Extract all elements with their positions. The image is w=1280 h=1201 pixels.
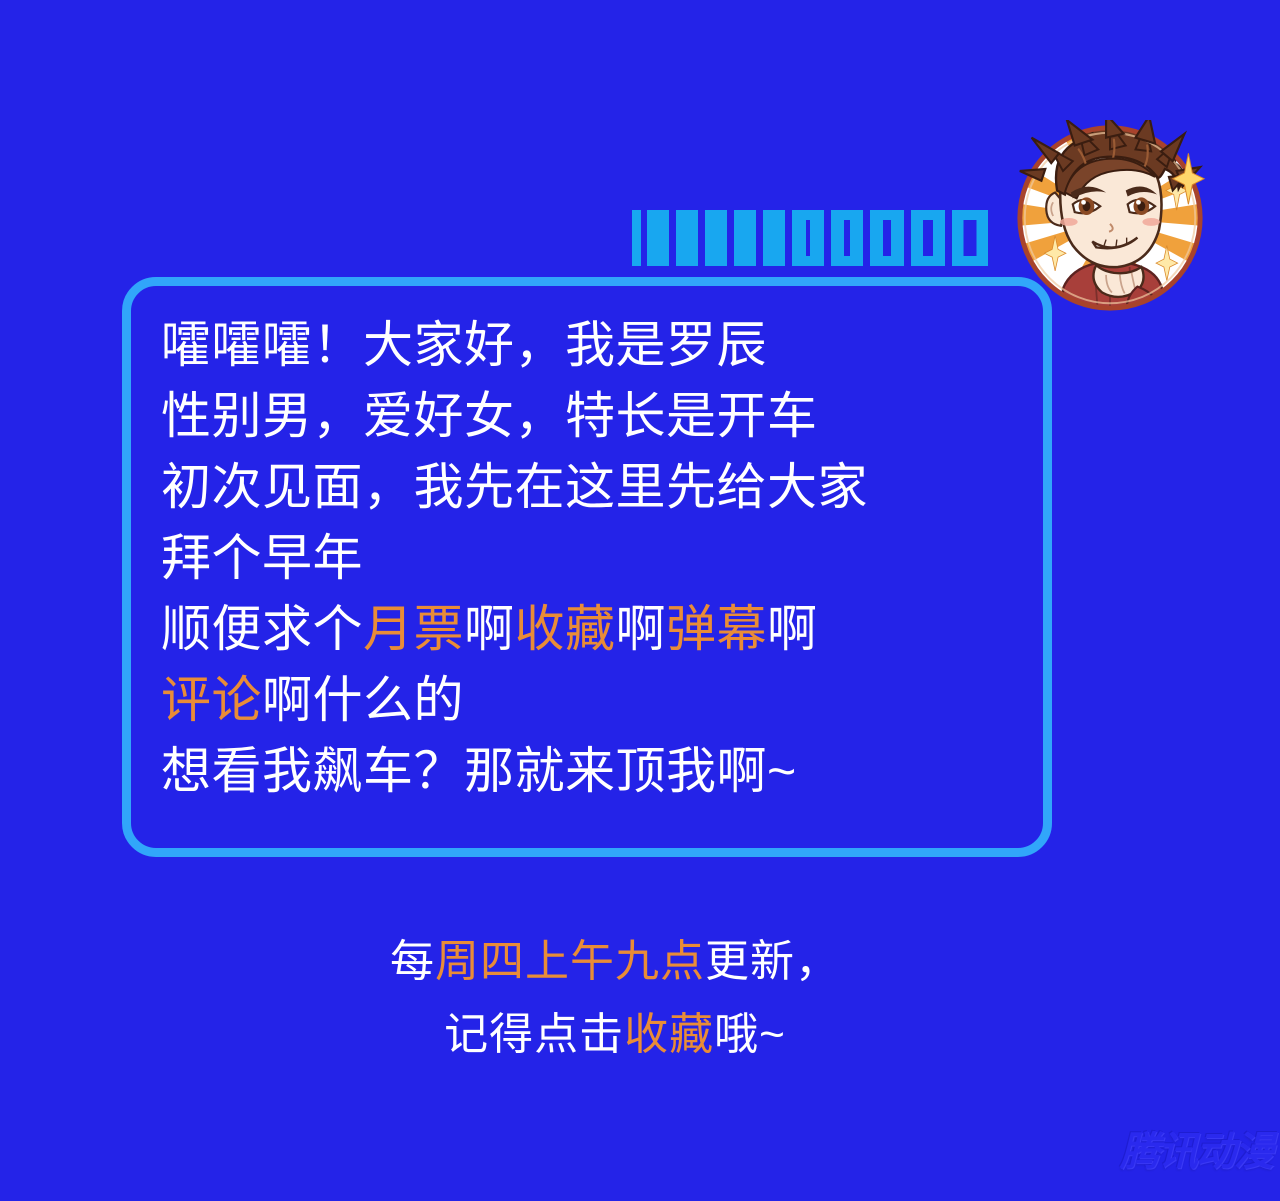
update-schedule-note: 每周四上午九点更新，记得点击收藏哦~ [0,925,1230,1071]
footer-note-line-2-run-1: 记得点击 [444,1010,624,1059]
bubble-text-line-4-run-1: 拜个早年 [161,530,363,586]
bubble-text-line-5-run-3: 啊 [464,601,515,657]
bubble-text-line-5-run-6-highlight: 弹幕 [666,601,767,657]
bubble-text-line-6: 评论啊什么的 [161,665,1033,736]
footer-note-line-2: 记得点击收藏哦~ [0,998,1230,1071]
barcode-bar-5 [734,210,756,266]
bubble-text-line-5: 顺便求个月票啊收藏啊弹幕啊 [161,594,1033,665]
character-avatar [1012,120,1208,316]
speech-bubble-text: 嚯嚯嚯！大家好，我是罗辰性别男，爱好女，特长是开车初次见面，我先在这里先给大家拜… [161,310,1033,807]
barcode-ring-10 [911,210,945,266]
barcode-ring-9 [870,210,904,266]
decorative-barcode [632,210,990,266]
bubble-text-line-5-run-2-highlight: 月票 [363,601,464,657]
bubble-text-line-5-run-7: 啊 [767,601,818,657]
barcode-ring-8 [831,210,863,266]
speech-bubble: 嚯嚯嚯！大家好，我是罗辰性别男，爱好女，特长是开车初次见面，我先在这里先给大家拜… [122,277,1052,857]
footer-note-line-2-run-2-highlight: 收藏 [624,1010,714,1059]
bubble-text-line-7-run-1: 想看我飙车？那就来顶我啊~ [161,743,797,799]
barcode-bar-2 [647,210,669,266]
bubble-text-line-2-run-1: 性别男，爱好女，特长是开车 [161,388,818,444]
barcode-bar-4 [705,210,727,266]
bubble-text-line-6-run-1-highlight: 评论 [161,672,262,728]
bubble-text-line-6-run-2: 啊什么的 [262,672,464,728]
footer-note-line-1-run-3: 更新， [705,937,840,986]
bubble-text-line-1-run-1: 嚯嚯嚯！大家好，我是罗辰 [161,317,767,373]
footer-note-line-1-run-2-highlight: 周四上午九点 [435,937,705,986]
bubble-text-line-3-run-1: 初次见面，我先在这里先给大家 [161,459,868,515]
footer-note-line-1-run-1: 每 [390,937,435,986]
bubble-text-line-4: 拜个早年 [161,523,1033,594]
bubble-text-line-5-run-4-highlight: 收藏 [515,601,616,657]
footer-note-line-1: 每周四上午九点更新， [0,925,1230,998]
bubble-text-line-2: 性别男，爱好女，特长是开车 [161,381,1033,452]
bubble-text-line-5-run-1: 顺便求个 [161,601,363,657]
barcode-ring-11 [952,210,988,266]
bubble-text-line-1: 嚯嚯嚯！大家好，我是罗辰 [161,310,1033,381]
bubble-text-line-5-run-5: 啊 [616,601,667,657]
bubble-text-line-3: 初次见面，我先在这里先给大家 [161,452,1033,523]
footer-note-line-2-run-3: 哦~ [714,1010,786,1059]
watermark-tencent-comics: 腾讯动漫 [1120,1119,1272,1177]
bubble-text-line-7: 想看我飙车？那就来顶我啊~ [161,736,1033,807]
barcode-bar-3 [676,210,698,266]
barcode-bar-6 [763,210,785,266]
barcode-ring-7 [792,210,824,266]
comic-panel: 嚯嚯嚯！大家好，我是罗辰性别男，爱好女，特长是开车初次见面，我先在这里先给大家拜… [0,0,1280,1201]
barcode-bar-1 [632,210,641,266]
